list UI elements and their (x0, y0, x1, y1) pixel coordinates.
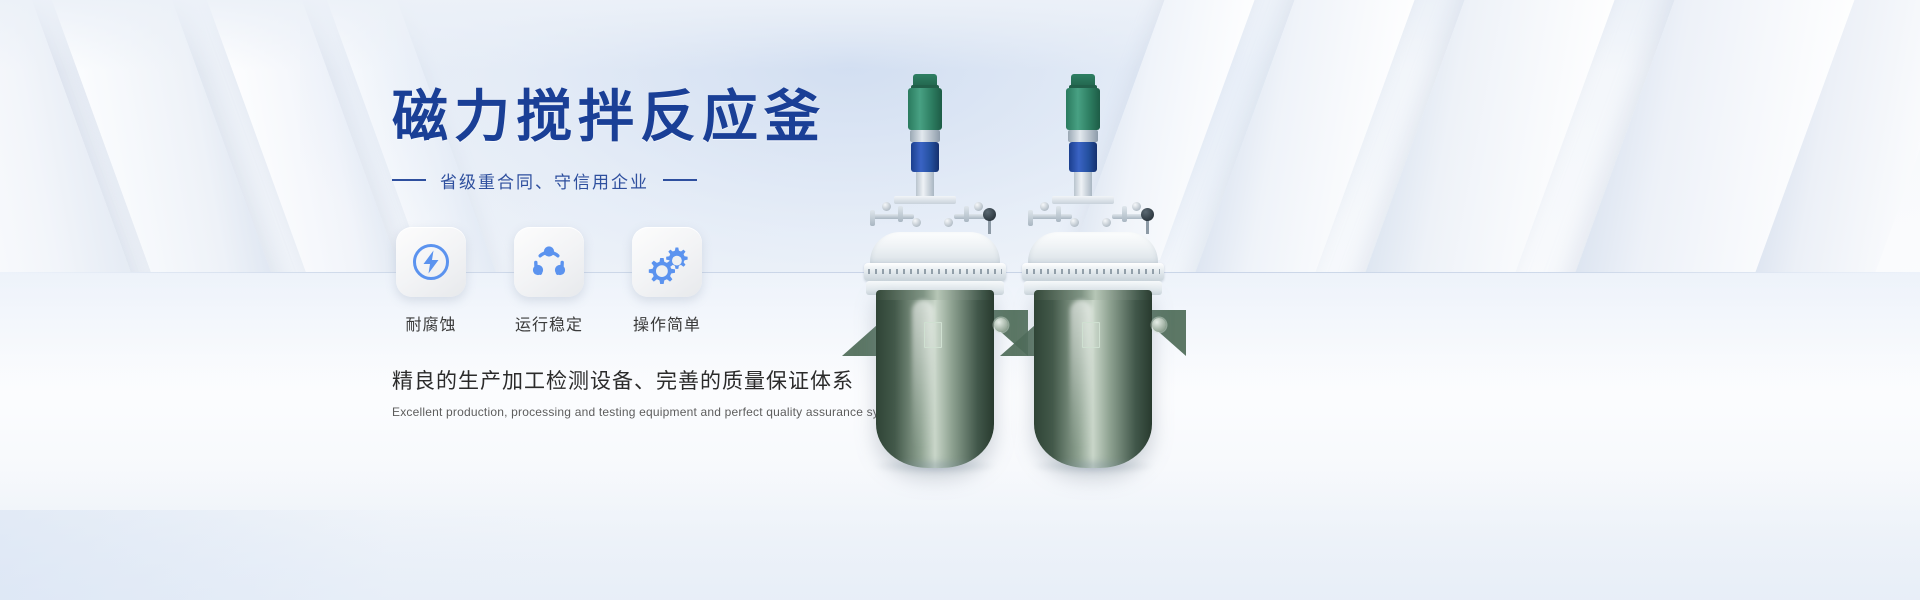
vessel-nameplate (924, 322, 942, 348)
pipe (1028, 210, 1033, 226)
valve-knob (1102, 218, 1111, 227)
feature-item-simple-operation[interactable]: 操作简单 (628, 227, 706, 335)
lightning-bolt-icon (409, 240, 453, 284)
valve-knob (1070, 218, 1079, 227)
gauge-stem (1146, 220, 1149, 234)
flange-bolt-row (1026, 269, 1160, 274)
vessel-side-port (1152, 318, 1166, 332)
gearbox (1068, 130, 1098, 142)
feature-label: 运行稳定 (510, 311, 588, 335)
product-image-group (840, 60, 1200, 460)
shaft-neck (916, 172, 934, 198)
feature-label: 操作简单 (628, 311, 706, 335)
vessel-head-dome (870, 232, 1000, 266)
flange-bolt-row (868, 269, 1002, 274)
pressure-gauge (983, 208, 996, 221)
vessel-ground-shadow (1032, 458, 1154, 474)
pipe (1122, 206, 1127, 222)
vessel-top-band (876, 290, 994, 300)
vessel-body (876, 290, 994, 468)
reactor-vessel-left (850, 60, 1020, 460)
valve-knob (1132, 202, 1141, 211)
valve-knob (882, 202, 891, 211)
magnetic-coupler (911, 142, 939, 172)
pipe-manifold (868, 200, 1002, 232)
pipe (898, 206, 903, 222)
pipe (1028, 214, 1072, 219)
share-nodes-icon (527, 240, 571, 284)
drive-motor (908, 88, 942, 130)
gears-icon (644, 240, 690, 284)
magnetic-coupler (1069, 142, 1097, 172)
gauge-stem (988, 220, 991, 234)
feature-tile (396, 227, 466, 297)
valve-knob (1040, 202, 1049, 211)
vessel-nameplate (1082, 322, 1100, 348)
pipe (964, 206, 969, 222)
feature-label: 耐腐蚀 (392, 311, 470, 335)
pipe (870, 214, 914, 219)
reactor-vessel-right (1008, 60, 1178, 460)
pipe (1056, 206, 1061, 222)
vessel-ground-shadow (874, 458, 996, 474)
valve-knob (912, 218, 921, 227)
valve-knob (944, 218, 953, 227)
vessel-body (1034, 290, 1152, 468)
feature-tile (514, 227, 584, 297)
gearbox (910, 130, 940, 142)
feature-item-stable-operation[interactable]: 运行稳定 (510, 227, 588, 335)
shaft-neck (1074, 172, 1092, 198)
subtitle-rule-right (663, 179, 697, 181)
hero-banner: 磁力搅拌反应釜 省级重合同、守信用企业 耐腐蚀 (0, 0, 1920, 600)
vessel-head-dome (1028, 232, 1158, 266)
vessel-top-band (1034, 290, 1152, 300)
pressure-gauge (1141, 208, 1154, 221)
pipe (870, 210, 875, 226)
subtitle-rule-left (392, 179, 426, 181)
feature-tile (632, 227, 702, 297)
background-bottom-tint (0, 510, 560, 600)
feature-item-corrosion-resistant[interactable]: 耐腐蚀 (392, 227, 470, 335)
pipe-manifold (1026, 200, 1160, 232)
valve-knob (974, 202, 983, 211)
drive-motor (1066, 88, 1100, 130)
banner-subtitle: 省级重合同、守信用企业 (440, 168, 649, 193)
